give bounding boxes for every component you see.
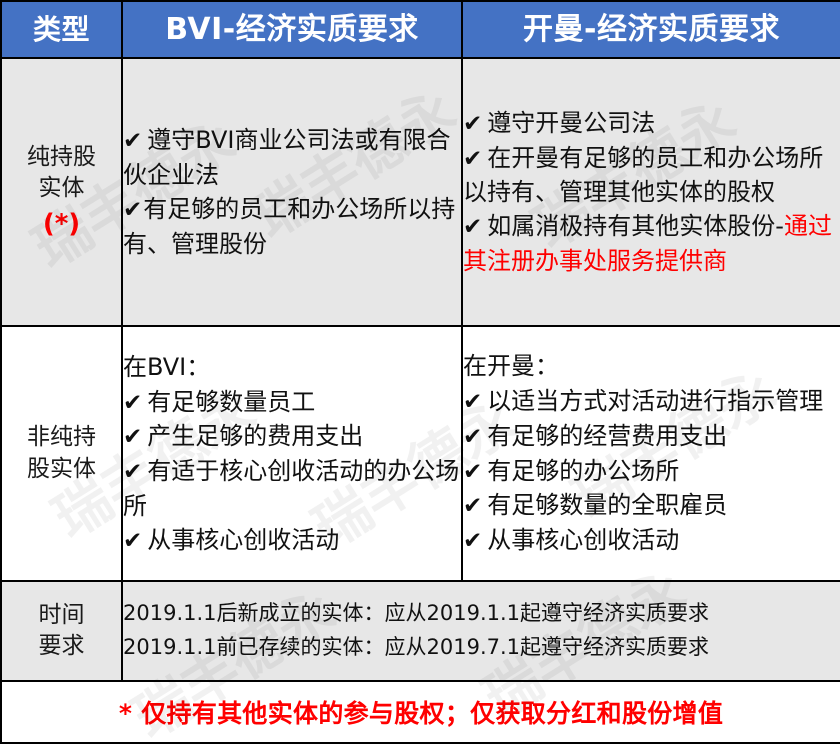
row-label-line1: 非纯持 <box>2 422 121 453</box>
check-icon: ✔ <box>463 424 487 450</box>
list-item: ✔遵守开曼公司法 <box>463 106 840 141</box>
list-item-text: 遵守开曼公司法 <box>487 109 655 137</box>
check-icon: ✔ <box>123 528 147 554</box>
check-icon: ✔ <box>123 424 147 450</box>
economic-substance-requirements-table: 类型 BVI-经济实质要求 开曼-经济实质要求 纯持股 实体 (*) ✔遵守BV… <box>0 0 840 744</box>
row-label-footnote-marker: (*) <box>2 207 121 242</box>
list-item: ✔产生足够的费用支出 <box>123 419 461 454</box>
check-icon: ✔ <box>463 459 487 485</box>
header-cell-type: 类型 <box>1 1 122 58</box>
row-label-pure-holding: 纯持股 实体 (*) <box>1 58 122 326</box>
time-rule-new-entities: 2019.1.1后新成立的实体：应从2019.1.1起遵守经济实质要求 <box>123 597 840 631</box>
cell-bvi-pure-holding: ✔遵守BVI商业公司法或有限合伙企业法 ✔有足够的员工和办公场所以持有、管理股份 <box>122 58 462 326</box>
row-label-line2: 股实体 <box>2 454 121 485</box>
table-header: 类型 BVI-经济实质要求 开曼-经济实质要求 <box>1 1 840 58</box>
list-item: ✔有足够的经营费用支出 <box>463 419 840 454</box>
time-rule-existing-entities: 2019.1.1前已存续的实体：应从2019.7.1起遵守经济实质要求 <box>123 631 840 665</box>
list-item: ✔有适于核心创收活动的办公场所 <box>123 454 461 523</box>
list-item: ✔在开曼有足够的员工和办公场所以持有、管理其他实体的股权 <box>463 141 840 210</box>
list-item: ✔如属消极持有其他实体股份-通过其注册办事处服务提供商 <box>463 209 840 278</box>
list-item-text: 有适于核心创收活动的办公场所 <box>123 457 459 520</box>
list-item-text: 有足够的员工和办公场所以持有、管理股份 <box>123 195 455 258</box>
list-item: ✔有足够的办公场所 <box>463 454 840 489</box>
row-label-time-requirement: 时间 要求 <box>1 581 122 681</box>
check-icon: ✔ <box>123 128 147 154</box>
list-item: ✔有足够的员工和办公场所以持有、管理股份 <box>123 192 461 261</box>
list-lead-label: 在开曼： <box>463 349 840 383</box>
check-icon: ✔ <box>463 528 487 554</box>
header-cell-bvi: BVI-经济实质要求 <box>122 1 462 58</box>
list-lead-label: 在BVI： <box>123 350 461 384</box>
header-cell-cayman: 开曼-经济实质要求 <box>462 1 840 58</box>
cell-bvi-non-pure-holding: 在BVI： ✔有足够数量员工 ✔产生足够的费用支出 ✔有适于核心创收活动的办公场… <box>122 326 462 581</box>
footnote-row: * 仅持有其他实体的参与股权；仅获取分红和股份增值 <box>1 681 840 743</box>
list-item: ✔有足够数量员工 <box>123 385 461 420</box>
check-icon: ✔ <box>463 111 487 137</box>
check-icon: ✔ <box>463 146 487 172</box>
check-icon: ✔ <box>463 214 487 240</box>
check-icon: ✔ <box>123 459 147 485</box>
list-item-text: 有足够数量的全职雇员 <box>487 491 727 519</box>
list-item-text: 有足够的办公场所 <box>487 457 679 485</box>
cell-cayman-pure-holding: ✔遵守开曼公司法 ✔在开曼有足够的员工和办公场所以持有、管理其他实体的股权 ✔如… <box>462 58 840 326</box>
list-item: ✔有足够数量的全职雇员 <box>463 488 840 523</box>
check-icon: ✔ <box>123 390 147 416</box>
economic-substance-table-container: 类型 BVI-经济实质要求 开曼-经济实质要求 纯持股 实体 (*) ✔遵守BV… <box>0 0 840 745</box>
check-icon: ✔ <box>463 493 487 519</box>
list-item: ✔以适当方式对活动进行指示管理 <box>463 384 840 419</box>
list-item-text: 如属消极持有其他实体股份- <box>487 212 784 240</box>
list-item: ✔从事核心创收活动 <box>463 523 840 558</box>
check-icon: ✔ <box>463 389 487 415</box>
table-row: 时间 要求 2019.1.1后新成立的实体：应从2019.1.1起遵守经济实质要… <box>1 581 840 681</box>
table-row: 纯持股 实体 (*) ✔遵守BVI商业公司法或有限合伙企业法 ✔有足够的员工和办… <box>1 58 840 326</box>
list-item: ✔从事核心创收活动 <box>123 523 461 558</box>
cell-time-requirement: 2019.1.1后新成立的实体：应从2019.1.1起遵守经济实质要求 2019… <box>122 581 840 681</box>
row-label-non-pure-holding: 非纯持 股实体 <box>1 326 122 581</box>
row-label-line2: 要求 <box>2 631 121 662</box>
table-row: 非纯持 股实体 在BVI： ✔有足够数量员工 ✔产生足够的费用支出 ✔有适于核心… <box>1 326 840 581</box>
list-item-text: 有足够数量员工 <box>147 388 315 416</box>
list-item-text: 从事核心创收活动 <box>487 526 679 554</box>
check-icon: ✔ <box>123 197 143 223</box>
footnote-text: * 仅持有其他实体的参与股权；仅获取分红和股份增值 <box>1 681 840 743</box>
cell-cayman-non-pure-holding: 在开曼： ✔以适当方式对活动进行指示管理 ✔有足够的经营费用支出 ✔有足够的办公… <box>462 326 840 581</box>
list-item-text: 遵守BVI商业公司法或有限合伙企业法 <box>123 126 451 189</box>
list-item-text: 产生足够的费用支出 <box>147 422 363 450</box>
list-item: ✔遵守BVI商业公司法或有限合伙企业法 <box>123 123 461 192</box>
table-body: 纯持股 实体 (*) ✔遵守BVI商业公司法或有限合伙企业法 ✔有足够的员工和办… <box>1 58 840 743</box>
list-item-text: 以适当方式对活动进行指示管理 <box>487 387 823 415</box>
list-item-text: 从事核心创收活动 <box>147 526 339 554</box>
row-label-line2: 实体 <box>2 173 121 204</box>
row-label-line1: 时间 <box>2 600 121 631</box>
header-row: 类型 BVI-经济实质要求 开曼-经济实质要求 <box>1 1 840 58</box>
list-item-text: 有足够的经营费用支出 <box>487 422 727 450</box>
list-item-text: 在开曼有足够的员工和办公场所以持有、管理其他实体的股权 <box>463 144 823 207</box>
row-label-line1: 纯持股 <box>2 142 121 173</box>
